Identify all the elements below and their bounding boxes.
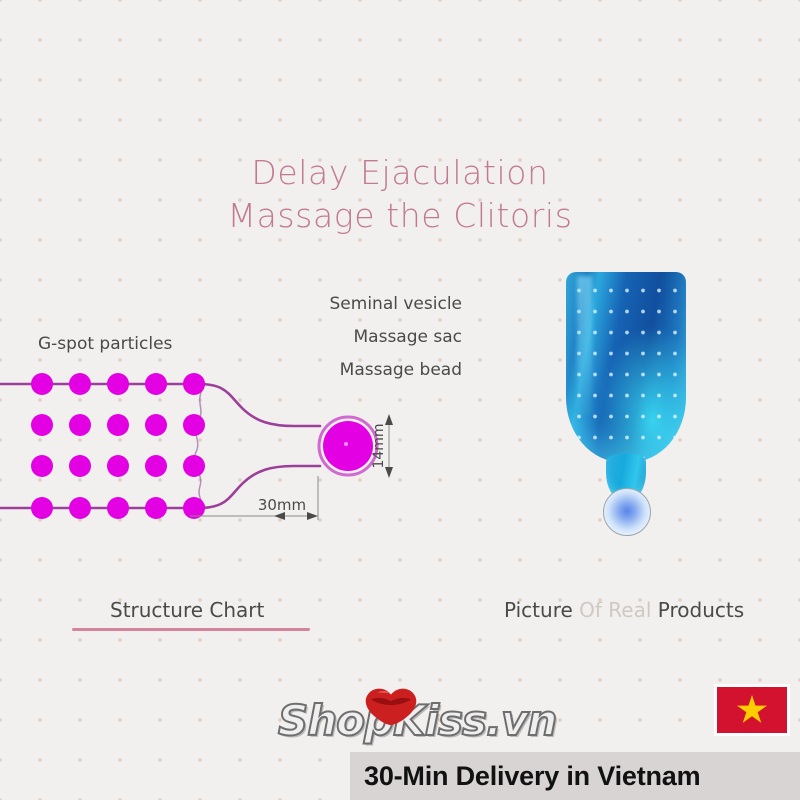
- callout-seminal-vesicle: Seminal vesicle: [330, 296, 462, 313]
- structure-diagram: 30mm 14mm: [0, 360, 410, 540]
- flag-star-icon: [737, 695, 767, 725]
- caption-picture-part-3: Products: [651, 598, 744, 622]
- label-g-spot-particles: G-spot particles: [38, 334, 172, 354]
- delivery-banner: 30-Min Delivery in Vietnam: [350, 752, 800, 800]
- product-gloss-highlight: [577, 276, 593, 417]
- caption-picture-part-1: Picture: [504, 598, 579, 622]
- watermark-shopkiss: ShopKiss.vn: [278, 688, 518, 750]
- caption-underline: [72, 628, 310, 631]
- lips-icon: [362, 686, 420, 726]
- sac-boundary-line: [194, 386, 205, 506]
- bead-highlight: [344, 442, 348, 446]
- dimension-width-label: 30mm: [258, 496, 306, 514]
- title-line-1: Delay Ejaculation: [0, 152, 800, 195]
- callout-massage-sac: Massage sac: [330, 329, 462, 346]
- delivery-banner-text: 30-Min Delivery in Vietnam: [364, 761, 700, 792]
- caption-structure-chart: Structure Chart: [110, 598, 264, 622]
- massage-bead: [323, 421, 373, 471]
- dimension-height-label: 14mm: [371, 423, 387, 468]
- product-bead: [603, 488, 651, 536]
- title-line-2: Massage the Clitoris: [0, 195, 800, 238]
- caption-picture-part-2: Of Real: [579, 598, 651, 622]
- page-title: Delay Ejaculation Massage the Clitoris: [0, 152, 800, 238]
- vietnam-flag-badge: [714, 684, 790, 736]
- infographic-canvas: Delay Ejaculation Massage the Clitoris G…: [0, 0, 800, 800]
- dimension-width: 30mm: [190, 476, 318, 520]
- dimension-height: 14mm: [371, 414, 393, 478]
- product-photo: [556, 272, 696, 534]
- product-sleeve: [566, 272, 686, 462]
- particle-grid: [31, 373, 205, 519]
- caption-picture-of-real-products: Picture Of Real Products: [504, 598, 744, 622]
